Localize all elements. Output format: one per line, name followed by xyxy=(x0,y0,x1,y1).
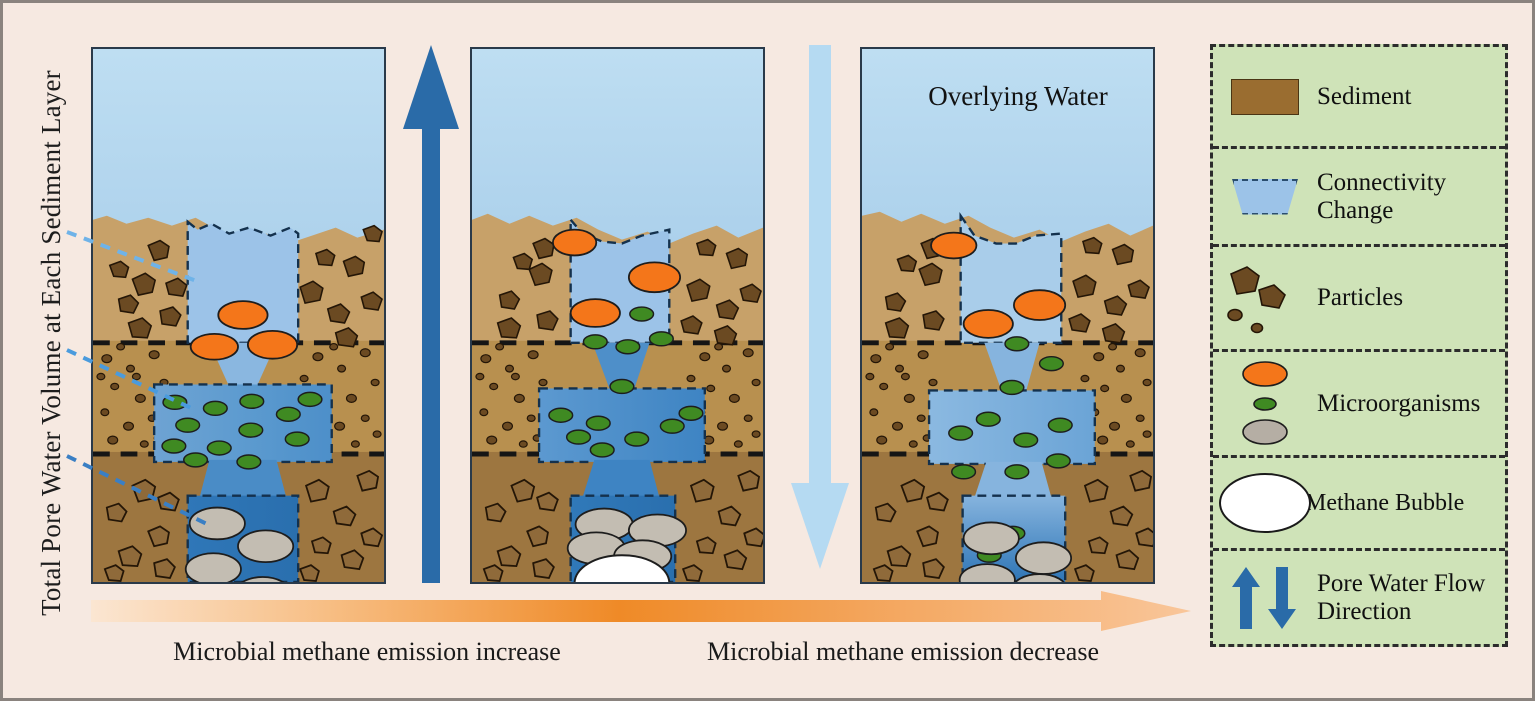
legend-item-methane-bubble: Methane Bubble xyxy=(1213,458,1505,551)
legend-label-pore-water-flow: Pore Water Flow Direction xyxy=(1317,570,1493,626)
connectivity-trapezoid-icon xyxy=(1213,149,1317,244)
overlying-water-label: Overlying Water xyxy=(883,81,1153,112)
legend-item-microorganisms: Microorganisms xyxy=(1213,352,1505,458)
panel-right xyxy=(860,47,1155,584)
caption-emission-decrease: Microbial methane emission decrease xyxy=(643,637,1163,667)
methane-emission-gradient-arrow xyxy=(91,591,1191,631)
panel-right-graphic xyxy=(862,49,1153,582)
methane-bubble-icon xyxy=(1213,458,1317,548)
legend-label-sediment: Sediment xyxy=(1317,83,1415,111)
panel-left xyxy=(91,47,386,584)
caption-emission-increase: Microbial methane emission increase xyxy=(107,637,627,667)
legend-label-microorganisms: Microorganisms xyxy=(1317,390,1484,418)
up-down-arrows-icon xyxy=(1213,551,1317,644)
legend-item-pore-water-flow: Pore Water Flow Direction xyxy=(1213,551,1505,644)
panel-middle xyxy=(470,47,765,584)
sediment-swatch-icon xyxy=(1213,47,1317,146)
legend-label-particles: Particles xyxy=(1317,284,1407,312)
legend-item-particles: Particles xyxy=(1213,247,1505,352)
pore-water-flow-up-arrow xyxy=(401,43,461,585)
figure-canvas: Total Pore Water Volume at Each Sediment… xyxy=(0,0,1535,701)
legend-label-connectivity-change: Connectivity Change xyxy=(1317,169,1505,225)
legend-item-connectivity-change: Connectivity Change xyxy=(1213,149,1505,247)
panel-middle-graphic xyxy=(472,49,763,582)
pore-water-flow-down-arrow xyxy=(788,43,852,571)
y-axis-label: Total Pore Water Volume at Each Sediment… xyxy=(28,23,74,663)
particles-cluster-icon xyxy=(1213,247,1317,349)
legend-label-methane-bubble: Methane Bubble xyxy=(1305,490,1468,517)
panel-left-graphic xyxy=(93,49,384,582)
legend-item-sediment: Sediment xyxy=(1213,47,1505,149)
microorganism-ellipses-icon xyxy=(1213,352,1317,455)
legend-panel: Sediment Connectivity Change Particle xyxy=(1210,44,1508,647)
